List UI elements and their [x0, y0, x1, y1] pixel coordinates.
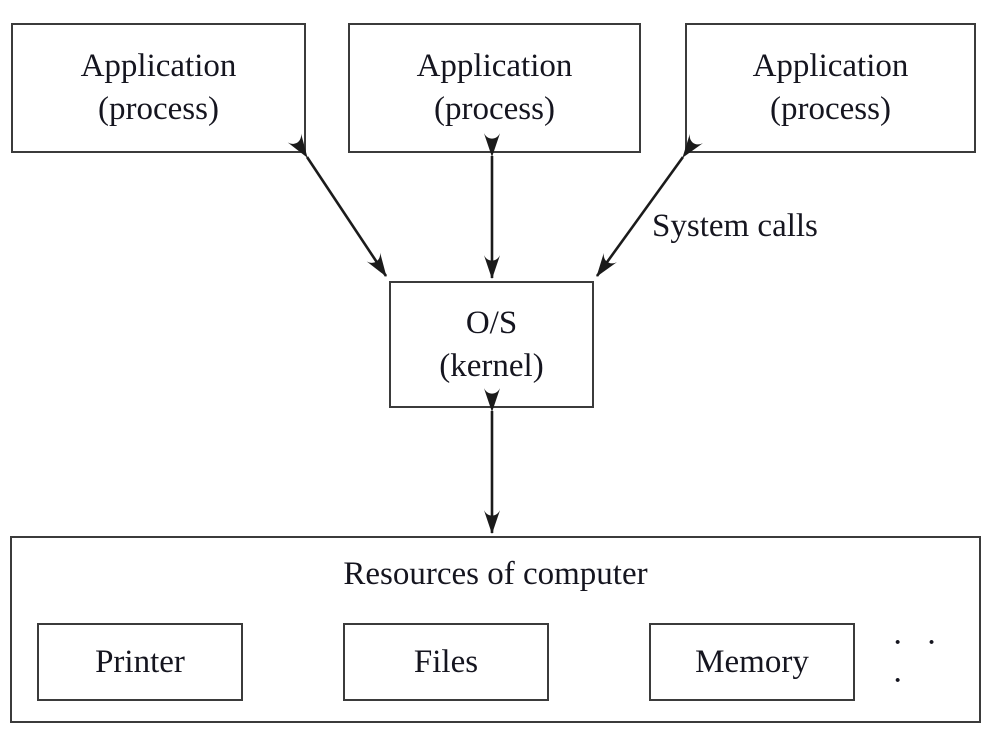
application-box-1-line2: (process)	[98, 88, 219, 131]
diagram-canvas: Application (process) Application (proce…	[0, 0, 993, 755]
resource-item-printer: Printer	[37, 623, 243, 701]
resource-item-files: Files	[343, 623, 549, 701]
connector-app1-kernel	[307, 157, 386, 276]
application-box-3: Application (process)	[685, 23, 976, 153]
application-box-3-line2: (process)	[770, 88, 891, 131]
application-box-3-line1: Application	[753, 45, 909, 88]
resources-box: Resources of computer Printer Files Memo…	[10, 536, 981, 723]
os-kernel-box: O/S (kernel)	[389, 281, 594, 408]
resources-title: Resources of computer	[12, 556, 979, 593]
system-calls-label: System calls	[652, 208, 818, 245]
application-box-2: Application (process)	[348, 23, 641, 153]
resource-ellipsis: · · ·	[892, 623, 972, 701]
resource-item-memory: Memory	[649, 623, 855, 701]
application-box-2-line2: (process)	[434, 88, 555, 131]
application-box-2-line1: Application	[417, 45, 573, 88]
os-kernel-line2: (kernel)	[439, 345, 543, 388]
os-kernel-line1: O/S	[466, 302, 517, 345]
application-box-1: Application (process)	[11, 23, 306, 153]
application-box-1-line1: Application	[81, 45, 237, 88]
